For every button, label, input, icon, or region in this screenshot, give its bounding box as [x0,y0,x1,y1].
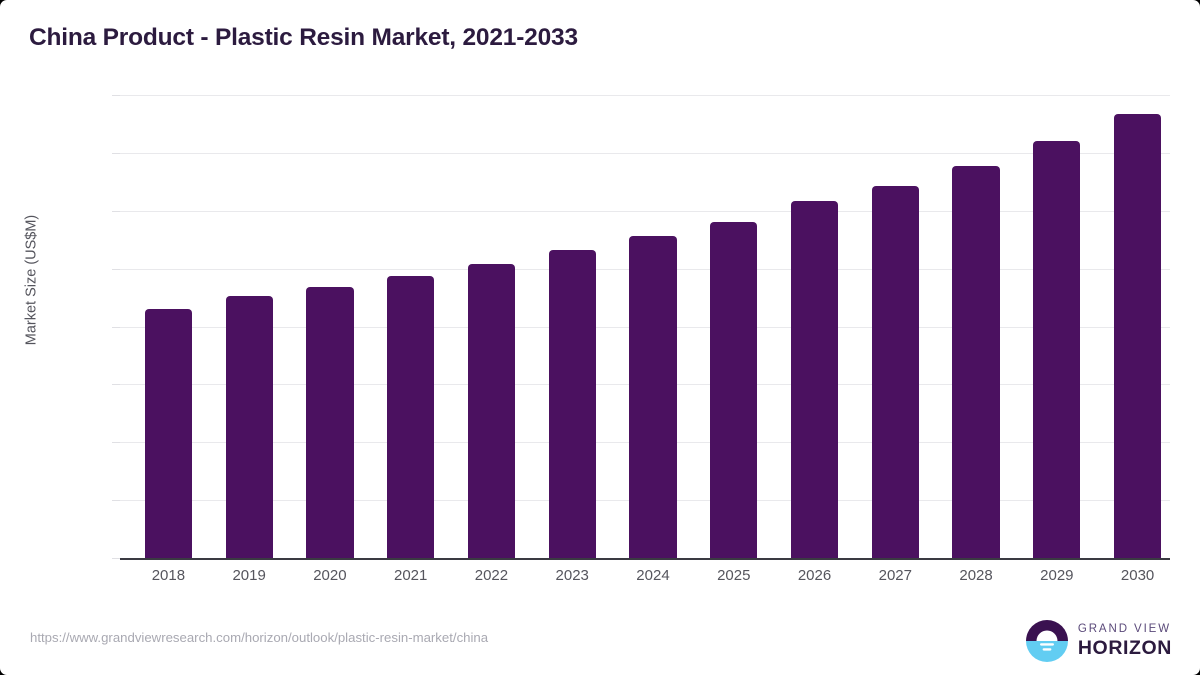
y-axis-tick-mark [112,153,120,154]
x-axis-tick-label: 2019 [209,567,290,584]
bar[interactable] [468,264,515,558]
bar[interactable] [629,236,676,558]
y-axis-tick-mark [112,442,120,443]
bar[interactable] [710,222,757,558]
y-axis-title-label: Market Size (US$M) [23,215,39,346]
y-axis-tick-mark [112,558,120,559]
gridline [120,211,1170,212]
bar[interactable] [306,287,353,558]
x-axis-tick-label: 2023 [532,567,613,584]
x-axis-tick-label: 2029 [1016,567,1097,584]
x-axis-tick-label: 2030 [1097,567,1178,584]
grand-view-horizon-sun-icon [1025,619,1069,663]
y-axis-tick-mark [112,384,120,385]
bar[interactable] [549,250,596,558]
bar[interactable] [872,186,919,558]
bar[interactable] [226,296,273,558]
y-axis-tick-mark [112,327,120,328]
y-axis-tick-mark [112,211,120,212]
brand-logo[interactable]: GRAND VIEW HORIZON [1025,618,1172,664]
brand-logo-text: GRAND VIEW HORIZON [1078,624,1172,659]
bar[interactable] [387,276,434,558]
y-axis-tick-mark [112,269,120,270]
bar[interactable] [1114,114,1161,558]
x-axis-tick-label: 2020 [290,567,371,584]
x-axis-tick-label: 2027 [855,567,936,584]
bar[interactable] [952,166,999,558]
x-axis-tick-label: 2024 [613,567,694,584]
bar[interactable] [145,309,192,558]
x-axis-tick-label: 2025 [693,567,774,584]
x-axis-line [120,558,1170,560]
x-axis-tick-label: 2026 [774,567,855,584]
x-axis-tick-label: 2022 [451,567,532,584]
y-axis-title: Market Size (US$M) [18,0,44,560]
plot-area: 050k100k150k200k250k300k350k400k 2018201… [120,95,1170,558]
gridline [120,153,1170,154]
y-axis-tick-mark [112,95,120,96]
chart-card: China Product - Plastic Resin Market, 20… [0,0,1200,675]
gridline [120,95,1170,96]
source-url[interactable]: https://www.grandviewresearch.com/horizo… [30,630,488,645]
brand-logo-line1: GRAND VIEW [1078,624,1172,636]
x-axis-tick-label: 2018 [128,567,209,584]
page-title: China Product - Plastic Resin Market, 20… [29,24,578,52]
x-axis-tick-label: 2028 [936,567,1017,584]
y-axis-tick-mark [112,500,120,501]
x-axis-tick-label: 2021 [370,567,451,584]
bar[interactable] [791,201,838,558]
bar[interactable] [1033,141,1080,558]
brand-logo-line2: HORIZON [1078,639,1172,659]
